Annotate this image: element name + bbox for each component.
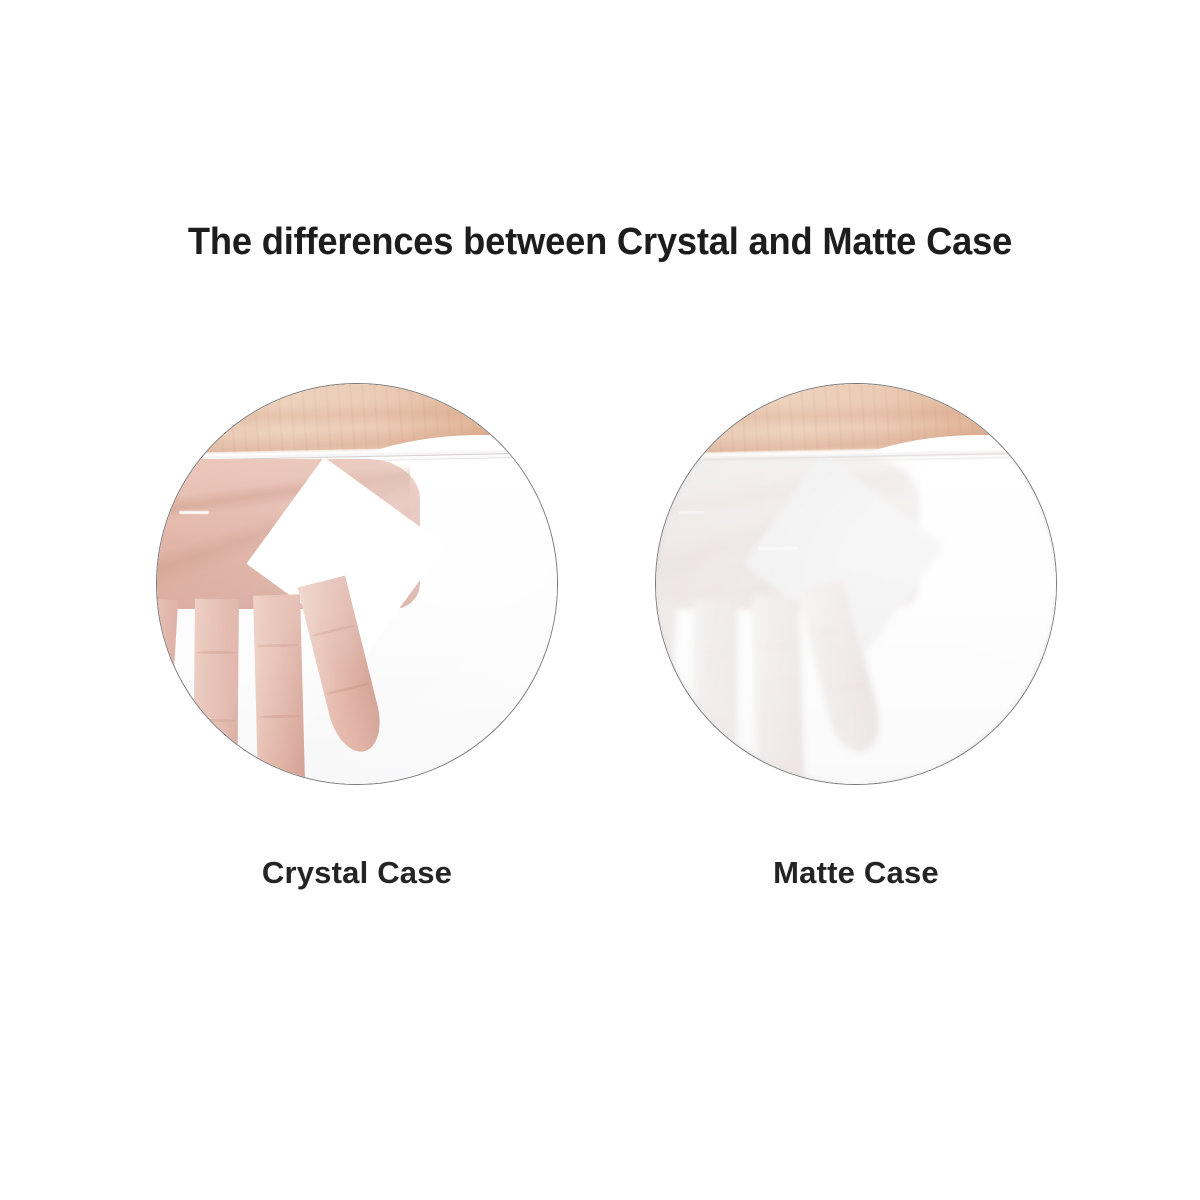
knuckle-crease [156, 651, 173, 656]
knuckle-crease [755, 643, 798, 647]
product-comparison-graphic: The differences between Crystal and Matt… [0, 0, 1200, 1200]
comparison-row [0, 0, 1200, 1200]
knuckle-crease [326, 681, 370, 695]
knuckle-crease [810, 624, 854, 638]
finger-middle [752, 594, 805, 785]
caption-crystal-case: Crystal Case [156, 855, 558, 891]
knuckle-crease [655, 717, 668, 722]
finger-little [655, 598, 677, 785]
comparison-item-matte[interactable] [655, 383, 1057, 785]
knuckle-crease [196, 650, 237, 653]
knuckle-crease [311, 624, 355, 638]
comparison-item-crystal[interactable] [156, 383, 558, 785]
hand-behind-case [655, 459, 949, 785]
knuckle-crease [757, 714, 800, 718]
knuckle-crease [825, 681, 869, 695]
finger-middle [253, 594, 306, 785]
knuckle-crease [695, 650, 736, 653]
crystal-scene [156, 383, 558, 785]
knuckle-crease [258, 714, 301, 718]
knuckle-crease [695, 719, 736, 722]
caption-matte-case: Matte Case [655, 855, 1057, 891]
matte-case-photo [655, 383, 1057, 785]
knuckle-crease [256, 643, 299, 647]
knuckle-crease [156, 717, 169, 722]
knuckle-crease [655, 651, 672, 656]
crystal-case-photo [156, 383, 558, 785]
finger-little [156, 598, 178, 785]
finger-ring [692, 599, 738, 785]
knuckle-crease [196, 719, 237, 722]
finger-ring [193, 599, 239, 785]
matte-scene [655, 383, 1057, 785]
hand-behind-case [156, 459, 450, 785]
